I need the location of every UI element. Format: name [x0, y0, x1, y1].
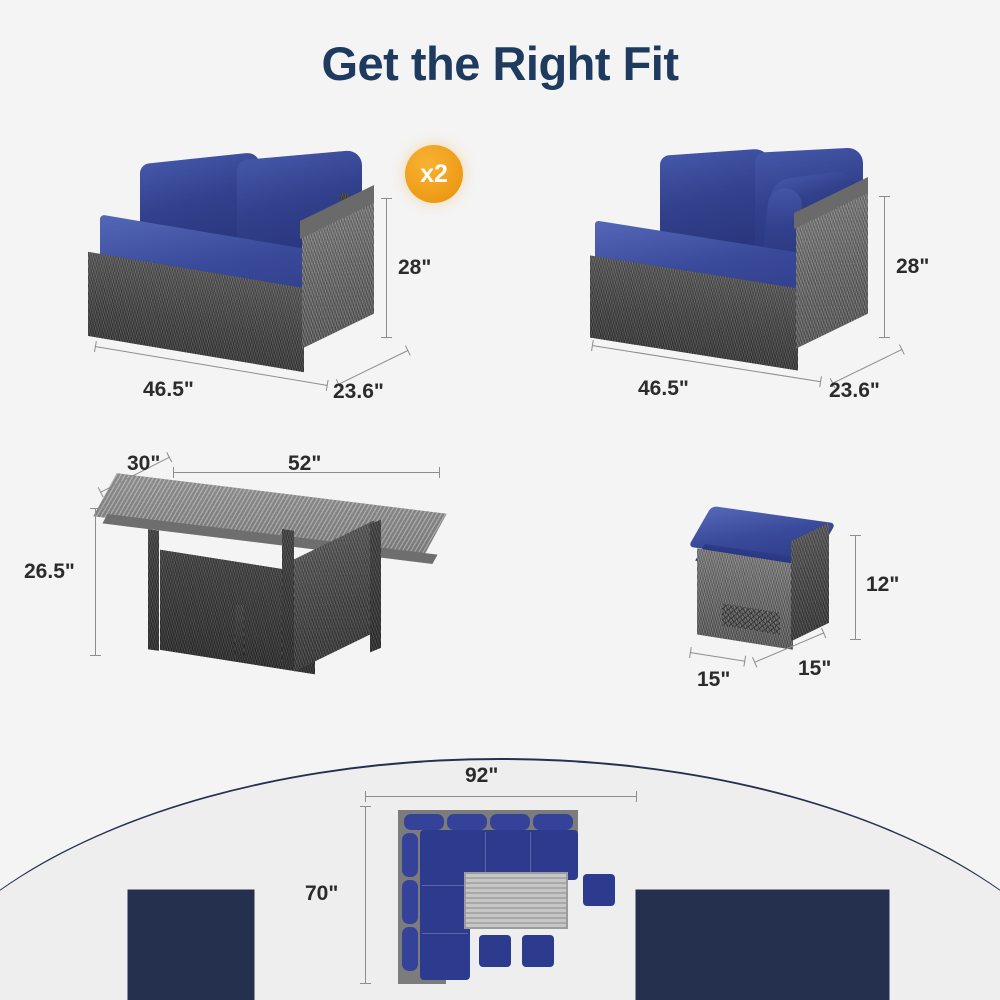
overall-layout-section: 92" 70": [0, 740, 1000, 1000]
plan-pillow: [402, 927, 418, 971]
table-leg-right: [370, 520, 381, 652]
plan-seam: [422, 933, 468, 934]
plan-pillow: [404, 814, 444, 830]
plan-ottoman: [522, 935, 554, 967]
page-title: Get the Right Fit: [0, 36, 1000, 91]
dimension-line-depth: [690, 652, 745, 662]
dimension-height: 28": [896, 255, 929, 279]
dimension-height: 28": [398, 256, 431, 280]
dimension-depth: 23.6": [333, 380, 384, 404]
dimension-depth: 23.6": [829, 379, 880, 403]
plan-pillow: [490, 814, 530, 830]
overall-width-line: [365, 796, 637, 797]
dimension-width: 52": [288, 452, 321, 476]
table-center-post: [282, 529, 294, 663]
table-leg-rear-left: [148, 529, 159, 651]
dimension-line-height: [386, 198, 387, 338]
dimension-depth: 15": [697, 668, 730, 692]
plan-table: [464, 872, 568, 929]
dimension-depth: 30": [127, 452, 160, 476]
dimension-line-height: [95, 508, 96, 656]
ottoman-base-side: [791, 523, 829, 642]
overall-depth-label: 70": [305, 882, 338, 906]
dimension-width: 15": [798, 657, 831, 681]
table-top: [93, 473, 446, 557]
overall-depth-line: [365, 806, 366, 984]
infographic-canvas: Get the Right Fit 28" 46.5" 23.6" x2: [0, 0, 1000, 1000]
plan-ottoman: [479, 935, 511, 967]
dimension-height: 26.5": [24, 560, 75, 584]
plan-seam: [422, 885, 468, 886]
plan-pillow: [533, 814, 573, 830]
dimension-width: 46.5": [638, 377, 689, 401]
dimension-width: 46.5": [143, 378, 194, 402]
plan-pillow: [447, 814, 487, 830]
plan-ottoman: [583, 874, 615, 906]
plan-pillow: [402, 833, 418, 877]
plan-pillow: [402, 880, 418, 924]
dimension-line-height: [855, 535, 856, 640]
quantity-badge: x2: [405, 145, 463, 203]
overall-width-label: 92": [465, 764, 498, 788]
dimension-line-height: [884, 196, 885, 338]
dimension-height: 12": [866, 573, 899, 597]
table-leg-mid: [235, 605, 244, 657]
plan-seat-left: [420, 830, 470, 980]
